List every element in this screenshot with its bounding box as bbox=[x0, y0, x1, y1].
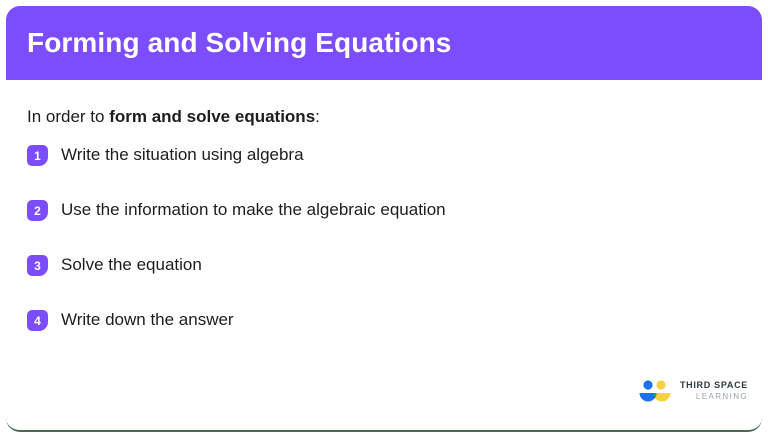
lesson-card: Forming and Solving Equations In order t… bbox=[6, 6, 762, 432]
step-label: Write down the answer bbox=[61, 310, 234, 330]
step-label: Solve the equation bbox=[61, 255, 202, 275]
list-item: 2 Use the information to make the algebr… bbox=[27, 199, 741, 222]
intro-text: In order to form and solve equations: bbox=[27, 80, 741, 128]
intro-prefix: In order to bbox=[27, 107, 109, 126]
steps-list: 1 Write the situation using algebra 2 Us… bbox=[27, 144, 741, 332]
list-item: 1 Write the situation using algebra bbox=[27, 144, 741, 167]
logo-wordmark: THIRD SPACE LEARNING bbox=[680, 381, 748, 401]
step-number-badge: 1 bbox=[27, 145, 48, 166]
intro-suffix: : bbox=[315, 107, 320, 126]
card-body: In order to form and solve equations: 1 … bbox=[6, 80, 762, 430]
step-number-badge: 2 bbox=[27, 200, 48, 221]
third-space-learning-mark-icon bbox=[638, 378, 672, 404]
third-space-learning-logo: THIRD SPACE LEARNING bbox=[638, 378, 748, 404]
card-header: Forming and Solving Equations bbox=[6, 6, 762, 80]
page-title: Forming and Solving Equations bbox=[27, 28, 451, 59]
list-item: 4 Write down the answer bbox=[27, 309, 741, 332]
logo-line-1: THIRD SPACE bbox=[680, 381, 748, 390]
step-number-badge: 4 bbox=[27, 310, 48, 331]
list-item: 3 Solve the equation bbox=[27, 254, 741, 277]
intro-emphasis: form and solve equations bbox=[109, 107, 315, 126]
logo-line-2: LEARNING bbox=[696, 393, 748, 401]
step-label: Write the situation using algebra bbox=[61, 145, 304, 165]
step-number-badge: 3 bbox=[27, 255, 48, 276]
step-label: Use the information to make the algebrai… bbox=[61, 200, 446, 220]
